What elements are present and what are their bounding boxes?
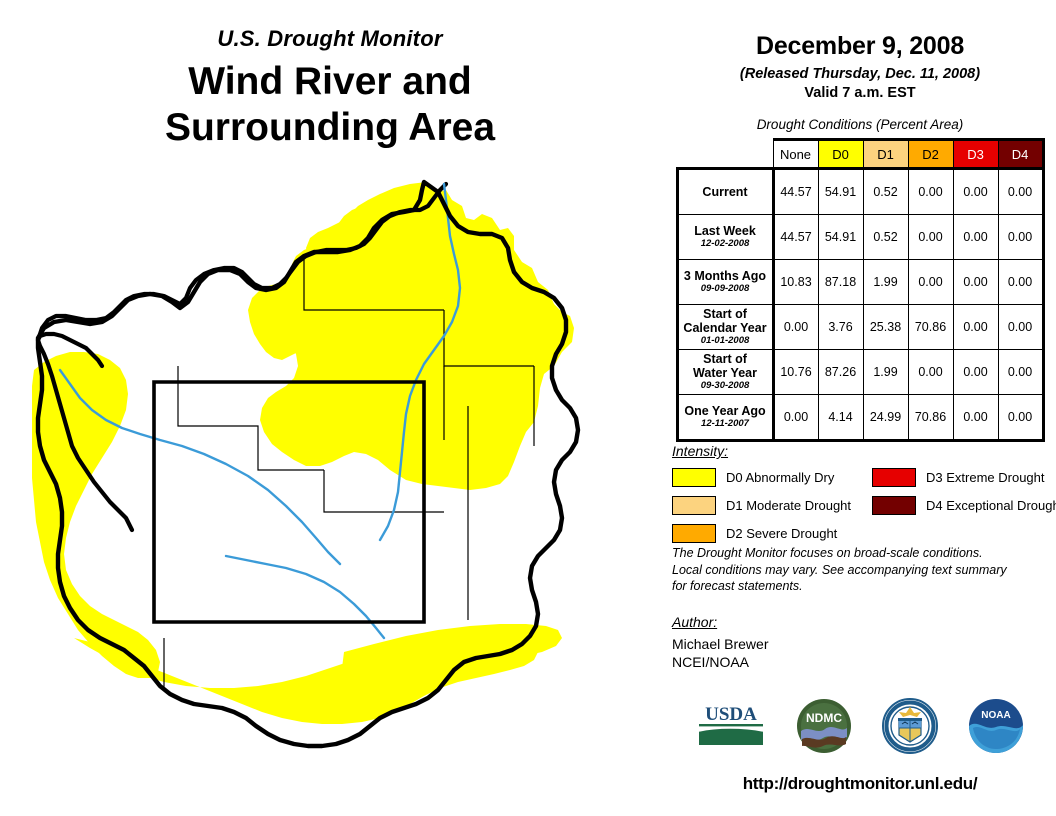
intensity-legend: Intensity: D0 Abnormally DryD1 Moderate …	[672, 443, 1056, 546]
table-cell-d0: 4.14	[818, 395, 863, 441]
legend-item-d1: D1 Moderate Drought	[672, 496, 851, 515]
region-title-line2: Surrounding Area	[0, 105, 660, 151]
table-cell-d0: 87.18	[818, 260, 863, 305]
table-cell-none: 0.00	[773, 305, 818, 350]
table-row-label: Start ofWater Year09-30-2008	[677, 350, 773, 395]
table-header-d0: D0	[818, 140, 863, 169]
legend-grid: D0 Abnormally DryD1 Moderate DroughtD2 S…	[672, 468, 1056, 546]
legend-label-d3: D3 Extreme Drought	[926, 470, 1045, 485]
drought-map[interactable]	[14, 170, 662, 790]
table-row-label: 3 Months Ago09-09-2008	[677, 260, 773, 305]
noaa-logo[interactable]: NOAA	[967, 697, 1025, 755]
noaa-logo-text: NOAA	[981, 710, 1010, 721]
table-header-d4: D4	[998, 140, 1043, 169]
table-cell-d2: 0.00	[908, 215, 953, 260]
drought-conditions-table: NoneD0D1D2D3D4 Current44.5754.910.520.00…	[676, 138, 1045, 442]
table-cell-d1: 0.52	[863, 215, 908, 260]
table-corner-cell	[677, 140, 773, 169]
dm-supertitle: U.S. Drought Monitor	[0, 28, 660, 50]
legend-swatch-d2	[672, 524, 716, 543]
disclaimer: The Drought Monitor focuses on broad-sca…	[672, 545, 1044, 595]
table-row: 3 Months Ago09-09-200810.8387.181.990.00…	[677, 260, 1043, 305]
table-cell-d2: 0.00	[908, 350, 953, 395]
table-row-label: One Year Ago12-11-2007	[677, 395, 773, 441]
info-panel: December 9, 2008 (Released Thursday, Dec…	[664, 0, 1056, 816]
table-cell-d2: 0.00	[908, 169, 953, 215]
table-row: Current44.5754.910.520.000.000.00	[677, 169, 1043, 215]
legend-item-d2: D2 Severe Drought	[672, 524, 837, 543]
usdc-seal-logo[interactable]	[881, 697, 939, 755]
table-cell-d1: 1.99	[863, 260, 908, 305]
disclaimer-line-1: The Drought Monitor focuses on broad-sca…	[672, 545, 1044, 562]
table-cell-d2: 70.86	[908, 305, 953, 350]
table-cell-d4: 0.00	[998, 395, 1043, 441]
table-cell-none: 10.76	[773, 350, 818, 395]
table-cell-none: 0.00	[773, 395, 818, 441]
page-title: Wind River and Surrounding Area	[0, 59, 660, 151]
table-row-date: 12-02-2008	[679, 239, 772, 250]
ndmc-logo-text: NDMC	[806, 711, 842, 725]
table-header-row: NoneD0D1D2D3D4	[677, 140, 1043, 169]
usda-logo-text: USDA	[705, 704, 757, 725]
title-block: U.S. Drought Monitor Wind River and Surr…	[0, 28, 660, 151]
legend-label-d0: D0 Abnormally Dry	[726, 470, 834, 485]
usda-logo[interactable]: USDA	[695, 700, 767, 752]
table-cell-d3: 0.00	[953, 395, 998, 441]
author-name: Michael Brewer	[672, 636, 768, 652]
disclaimer-line-2: Local conditions may vary. See accompany…	[672, 562, 1044, 579]
table-body: Current44.5754.910.520.000.000.00Last We…	[677, 169, 1043, 441]
table-cell-d3: 0.00	[953, 305, 998, 350]
intensity-title: Intensity:	[672, 443, 1056, 459]
valid-date: December 9, 2008	[664, 32, 1056, 61]
table-caption: Drought Conditions (Percent Area)	[664, 117, 1056, 132]
table-cell-d0: 3.76	[818, 305, 863, 350]
legend-item-d4: D4 Exceptional Drought	[872, 496, 1056, 515]
d0-area-west	[32, 352, 160, 678]
table-row: Start ofWater Year09-30-200810.7687.261.…	[677, 350, 1043, 395]
legend-label-d2: D2 Severe Drought	[726, 526, 837, 541]
table-row-label: Current	[677, 169, 773, 215]
table-cell-d0: 54.91	[818, 169, 863, 215]
table-cell-d3: 0.00	[953, 169, 998, 215]
table-cell-d3: 0.00	[953, 350, 998, 395]
legend-swatch-d1	[672, 496, 716, 515]
drought-monitor-page: U.S. Drought Monitor Wind River and Surr…	[0, 0, 1056, 816]
legend-item-d3: D3 Extreme Drought	[872, 468, 1045, 487]
legend-swatch-d4	[872, 496, 916, 515]
table-cell-d1: 1.99	[863, 350, 908, 395]
table-header-d3: D3	[953, 140, 998, 169]
table-cell-d0: 87.26	[818, 350, 863, 395]
table-row-date: 12-11-2007	[679, 419, 772, 430]
author-org: NCEI/NOAA	[672, 654, 768, 670]
table-cell-d4: 0.00	[998, 215, 1043, 260]
table-cell-d4: 0.00	[998, 305, 1043, 350]
table-cell-d1: 0.52	[863, 169, 908, 215]
table-row-date: 01-01-2008	[679, 336, 772, 347]
table-cell-d1: 24.99	[863, 395, 908, 441]
table-cell-d2: 70.86	[908, 395, 953, 441]
date-block: December 9, 2008 (Released Thursday, Dec…	[664, 0, 1056, 101]
table-cell-none: 44.57	[773, 215, 818, 260]
map-svg	[14, 170, 662, 790]
table-row-date: 09-09-2008	[679, 284, 772, 295]
table-cell-d0: 54.91	[818, 215, 863, 260]
legend-label-d1: D1 Moderate Drought	[726, 498, 851, 513]
valid-time: Valid 7 a.m. EST	[664, 85, 1056, 101]
table-row-label: Start ofCalendar Year01-01-2008	[677, 305, 773, 350]
table-cell-d4: 0.00	[998, 350, 1043, 395]
table-row-label: Last Week12-02-2008	[677, 215, 773, 260]
table-header-d1: D1	[863, 140, 908, 169]
table-cell-d4: 0.00	[998, 260, 1043, 305]
table-row: Last Week12-02-200844.5754.910.520.000.0…	[677, 215, 1043, 260]
river-south-branch	[226, 556, 384, 638]
table-cell-d3: 0.00	[953, 260, 998, 305]
table-cell-none: 10.83	[773, 260, 818, 305]
table-cell-d1: 25.38	[863, 305, 908, 350]
author-title: Author:	[672, 614, 768, 630]
table-cell-d3: 0.00	[953, 215, 998, 260]
table-cell-d2: 0.00	[908, 260, 953, 305]
table-header-none: None	[773, 140, 818, 169]
disclaimer-line-3: for forecast statements.	[672, 578, 1044, 595]
author-block: Author: Michael Brewer NCEI/NOAA	[672, 614, 768, 670]
table-cell-none: 44.57	[773, 169, 818, 215]
ndmc-logo[interactable]: NDMC	[795, 697, 853, 755]
region-title-line1: Wind River and	[0, 59, 660, 105]
table-header-d2: D2	[908, 140, 953, 169]
logo-row: USDA NDMC	[664, 690, 1056, 762]
table-row: One Year Ago12-11-20070.004.1424.9970.86…	[677, 395, 1043, 441]
legend-label-d4: D4 Exceptional Drought	[926, 498, 1056, 513]
legend-item-d0: D0 Abnormally Dry	[672, 468, 834, 487]
table-cell-d4: 0.00	[998, 169, 1043, 215]
table-row: Start ofCalendar Year01-01-20080.003.762…	[677, 305, 1043, 350]
legend-swatch-d0	[672, 468, 716, 487]
legend-swatch-d3	[872, 468, 916, 487]
site-url[interactable]: http://droughtmonitor.unl.edu/	[664, 774, 1056, 794]
table-row-date: 09-30-2008	[679, 381, 772, 392]
released-date: (Released Thursday, Dec. 11, 2008)	[664, 66, 1056, 82]
